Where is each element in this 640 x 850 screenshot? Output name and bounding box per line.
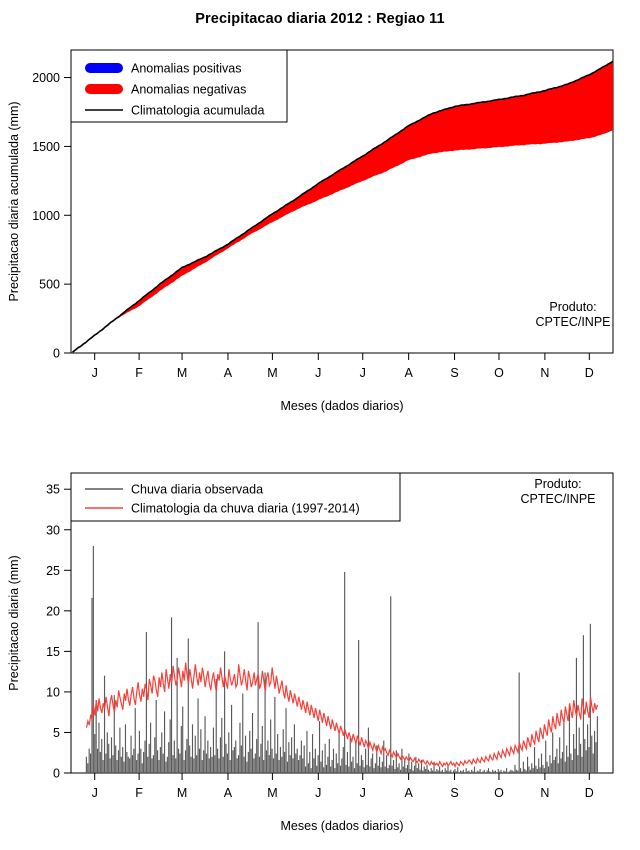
observed-bar <box>103 760 104 773</box>
observed-bar <box>540 767 541 773</box>
observed-bar <box>468 771 469 773</box>
observed-bar <box>290 755 291 773</box>
precipitation-figure: Precipitacao diaria 2012 : Regiao 11 050… <box>0 0 640 850</box>
observed-bar <box>507 772 508 773</box>
observed-bar <box>158 760 159 773</box>
x-tick-label-N: N <box>540 786 549 800</box>
observed-bar <box>146 632 147 773</box>
observed-bar <box>202 760 203 773</box>
observed-bar <box>362 760 363 773</box>
observed-bar <box>545 741 546 773</box>
observed-bar <box>191 757 192 773</box>
observed-bar <box>227 754 228 773</box>
observed-bar <box>184 760 185 773</box>
observed-bar <box>301 741 302 773</box>
observed-bar <box>533 768 534 773</box>
observed-bar <box>495 771 496 773</box>
observed-bar <box>406 768 407 773</box>
observed-bar <box>378 766 379 773</box>
observed-bar <box>506 768 507 773</box>
observed-bar <box>544 768 545 773</box>
legend-label-0: Chuva diaria observada <box>131 483 263 497</box>
observed-bar <box>87 763 88 773</box>
y-tick-label-20: 20 <box>46 604 60 618</box>
y-tick-label-1000: 1000 <box>32 209 60 223</box>
observed-bar <box>341 758 342 773</box>
observed-bar <box>519 672 520 773</box>
observed-bar <box>292 758 293 773</box>
observed-bar <box>157 750 158 773</box>
observed-bars-group <box>86 546 598 773</box>
x-tick-label-J: J <box>360 786 366 800</box>
y-axis-title: Precipitacao diaria (mm) <box>7 555 21 690</box>
observed-bar <box>209 758 210 773</box>
observed-bar <box>309 752 310 773</box>
observed-bar <box>586 750 587 773</box>
observed-bar <box>107 732 108 773</box>
legend-label-1: Climatologia da chuva diaria (1997-2014) <box>131 502 360 516</box>
observed-bar <box>453 771 454 773</box>
observed-bar <box>559 737 560 773</box>
observed-bar <box>207 741 208 773</box>
observed-bar <box>273 758 274 773</box>
observed-bar <box>517 771 518 773</box>
observed-bar <box>287 762 288 773</box>
observed-bar <box>499 771 500 773</box>
observed-bar <box>563 723 564 773</box>
produto-label-line2: CPTEC/INPE <box>520 492 595 506</box>
observed-bar <box>410 769 411 773</box>
legend-swatch-negative <box>85 84 123 94</box>
legend-label-1: Anomalias negativas <box>131 83 246 97</box>
accumulated-precipitation-chart: 0500100015002000JFMAMJJASONDMeses (dados… <box>0 30 640 450</box>
observed-bar <box>320 762 321 773</box>
observed-bar <box>252 713 253 773</box>
x-tick-label-F: F <box>135 366 143 380</box>
observed-bar <box>175 758 176 773</box>
observed-bar <box>509 771 510 773</box>
observed-bar <box>579 728 580 773</box>
observed-bar <box>160 747 161 773</box>
observed-bar <box>347 752 348 773</box>
x-tick-label-J: J <box>315 366 321 380</box>
observed-bar <box>380 767 381 773</box>
observed-bar <box>566 745 567 773</box>
observed-bar <box>475 772 476 773</box>
observed-bar <box>591 736 592 773</box>
observed-bar <box>242 694 243 773</box>
x-tick-label-F: F <box>135 786 143 800</box>
observed-bar <box>503 771 504 773</box>
observed-bar <box>165 762 166 773</box>
observed-bar <box>174 741 175 773</box>
legend-swatch-positive <box>85 63 123 73</box>
y-tick-label-25: 25 <box>46 564 60 578</box>
observed-bar <box>492 770 493 773</box>
observed-bar <box>554 760 555 773</box>
observed-bar <box>516 770 517 773</box>
accumulated-chart-svg: 0500100015002000JFMAMJJASONDMeses (dados… <box>0 30 640 450</box>
observed-bar <box>588 747 589 773</box>
observed-bar <box>396 750 397 773</box>
observed-bar <box>319 721 320 773</box>
observed-bar <box>570 754 571 773</box>
observed-bar <box>235 741 236 773</box>
observed-bar <box>98 723 99 773</box>
observed-bar <box>333 749 334 773</box>
observed-bar <box>90 754 91 773</box>
observed-bar <box>112 755 113 773</box>
observed-bar <box>463 770 464 773</box>
observed-bar <box>295 754 296 773</box>
observed-bar <box>143 752 144 773</box>
observed-bar <box>443 772 444 773</box>
observed-bar <box>459 772 460 773</box>
observed-bar <box>259 757 260 773</box>
observed-bar <box>315 749 316 773</box>
observed-bar <box>91 598 92 773</box>
observed-bar <box>345 765 346 773</box>
observed-bar <box>361 755 362 773</box>
observed-bar <box>408 754 409 773</box>
observed-bar <box>129 758 130 773</box>
observed-bar <box>284 752 285 773</box>
observed-bar <box>389 765 390 773</box>
observed-bar <box>256 739 257 773</box>
observed-bar <box>337 763 338 773</box>
observed-bar <box>587 724 588 773</box>
observed-bar <box>136 760 137 773</box>
observed-bar <box>260 744 261 773</box>
x-tick-label-M: M <box>267 786 277 800</box>
observed-bar <box>464 772 465 773</box>
observed-bar <box>140 749 141 773</box>
observed-bar <box>198 698 199 773</box>
observed-bar <box>401 749 402 773</box>
observed-bar <box>270 719 271 773</box>
observed-bar <box>237 758 238 773</box>
observed-bar <box>369 767 370 773</box>
observed-bar <box>534 747 535 773</box>
observed-bar <box>232 750 233 773</box>
observed-bar <box>489 771 490 773</box>
observed-bar <box>433 763 434 773</box>
observed-bar <box>251 749 252 773</box>
observed-bar <box>457 767 458 773</box>
observed-bar <box>514 765 515 773</box>
observed-bar <box>449 771 450 773</box>
observed-bar <box>267 741 268 773</box>
observed-bar <box>217 749 218 773</box>
observed-bar <box>390 596 391 773</box>
observed-bar <box>548 767 549 773</box>
observed-bar <box>248 752 249 773</box>
observed-bar <box>326 765 327 773</box>
observed-bar <box>329 739 330 773</box>
y-tick-label-0: 0 <box>53 347 60 361</box>
observed-bar <box>168 742 169 773</box>
observed-bar <box>340 766 341 773</box>
observed-bar <box>491 772 492 773</box>
observed-bar <box>355 742 356 773</box>
observed-bar <box>280 747 281 773</box>
observed-bar <box>153 755 154 773</box>
observed-bar <box>238 755 239 773</box>
observed-bar <box>285 708 286 773</box>
observed-bar <box>224 651 225 773</box>
observed-bar <box>524 769 525 773</box>
observed-bar <box>467 771 468 773</box>
observed-bar <box>561 758 562 773</box>
observed-bar <box>481 772 482 773</box>
observed-bar <box>94 734 95 773</box>
observed-bar <box>399 763 400 773</box>
observed-bar <box>574 749 575 773</box>
observed-bar <box>325 744 326 773</box>
observed-bar <box>306 731 307 773</box>
observed-bar <box>117 760 118 773</box>
observed-bar <box>383 741 384 773</box>
observed-bar <box>171 617 172 773</box>
observed-bar <box>422 771 423 773</box>
observed-bar <box>213 728 214 773</box>
observed-bar <box>142 763 143 773</box>
observed-bar <box>510 770 511 773</box>
observed-bar <box>411 762 412 773</box>
observed-bar <box>164 711 165 773</box>
observed-bar <box>188 638 189 773</box>
y-tick-label-10: 10 <box>46 685 60 699</box>
observed-bar <box>397 767 398 773</box>
y-tick-label-35: 35 <box>46 483 60 497</box>
observed-bar <box>144 741 145 773</box>
observed-bar <box>488 768 489 773</box>
x-tick-label-A: A <box>404 366 413 380</box>
observed-bar <box>294 724 295 773</box>
observed-bar <box>192 724 193 773</box>
observed-bar <box>512 771 513 773</box>
observed-bar <box>400 770 401 773</box>
observed-bar <box>115 745 116 773</box>
observed-bar <box>387 768 388 773</box>
observed-bar <box>446 771 447 773</box>
observed-bar <box>323 767 324 773</box>
observed-bar <box>348 767 349 773</box>
observed-bar <box>93 546 94 773</box>
x-tick-label-D: D <box>585 366 594 380</box>
legend-label-0: Anomalias positivas <box>131 62 241 76</box>
observed-bar <box>305 767 306 773</box>
observed-bar <box>419 770 420 773</box>
observed-bar <box>246 762 247 773</box>
observed-bar <box>132 755 133 773</box>
observed-bar <box>89 749 90 773</box>
observed-bar <box>364 767 365 773</box>
observed-bar <box>425 769 426 773</box>
x-tick-label-M: M <box>177 786 187 800</box>
observed-bar <box>253 758 254 773</box>
produto-label-line1: Produto: <box>549 300 596 314</box>
page-title: Precipitacao diaria 2012 : Regiao 11 <box>0 11 640 27</box>
observed-bar <box>343 747 344 773</box>
observed-bar <box>330 767 331 773</box>
observed-bar <box>528 767 529 773</box>
observed-bar <box>466 768 467 773</box>
observed-bar <box>302 758 303 773</box>
observed-bar <box>552 732 553 773</box>
observed-bar <box>154 737 155 773</box>
observed-bar <box>151 758 152 773</box>
observed-bar <box>547 762 548 773</box>
observed-bar <box>428 770 429 773</box>
observed-bar <box>438 771 439 773</box>
observed-bar <box>480 769 481 773</box>
observed-bar <box>394 769 395 773</box>
x-tick-label-N: N <box>540 366 549 380</box>
observed-bar <box>318 755 319 773</box>
observed-bar <box>366 765 367 773</box>
observed-bar <box>460 771 461 773</box>
observed-bar <box>322 750 323 773</box>
observed-bar <box>137 754 138 773</box>
observed-bar <box>520 768 521 773</box>
observed-bar <box>555 757 556 773</box>
x-tick-label-D: D <box>585 786 594 800</box>
daily-climatology-line <box>87 663 598 767</box>
observed-bar <box>567 757 568 773</box>
observed-bar <box>97 749 98 773</box>
observed-bar <box>439 767 440 773</box>
observed-bar <box>211 757 212 773</box>
observed-bar <box>385 767 386 773</box>
observed-bar <box>149 744 150 773</box>
observed-bar <box>477 771 478 773</box>
observed-bar <box>231 705 232 773</box>
observed-bar <box>351 762 352 773</box>
observed-bar <box>179 754 180 773</box>
observed-bar <box>593 754 594 773</box>
observed-bar <box>521 771 522 773</box>
observed-bar <box>350 737 351 773</box>
observed-bar <box>418 763 419 773</box>
observed-bar <box>255 754 256 773</box>
observed-bar <box>354 768 355 773</box>
observed-bar <box>541 754 542 773</box>
observed-bar <box>147 757 148 773</box>
observed-bar <box>352 757 353 773</box>
observed-bar <box>429 771 430 773</box>
observed-bar <box>130 736 131 773</box>
observed-bar <box>200 729 201 773</box>
observed-bar <box>121 757 122 773</box>
observed-bar <box>535 766 536 773</box>
legend-label-2: Climatologia acumulada <box>131 104 264 118</box>
observed-bar <box>542 765 543 773</box>
observed-bar <box>101 739 102 773</box>
observed-bar <box>482 771 483 773</box>
observed-bar <box>298 760 299 773</box>
observed-bar <box>327 757 328 773</box>
observed-bar <box>216 679 217 773</box>
observed-bar <box>527 757 528 773</box>
observed-bar <box>223 757 224 773</box>
observed-bar <box>558 763 559 773</box>
observed-bar <box>445 768 446 773</box>
observed-bar <box>373 768 374 773</box>
observed-bar <box>538 758 539 773</box>
x-axis-title: Meses (dados diarios) <box>281 819 404 833</box>
observed-bar <box>245 736 246 773</box>
observed-bar <box>487 771 488 773</box>
observed-bar <box>594 731 595 773</box>
observed-bar <box>125 724 126 773</box>
observed-bar <box>375 763 376 773</box>
observed-bar <box>266 750 267 773</box>
observed-bar <box>584 739 585 773</box>
observed-bar <box>442 770 443 773</box>
y-tick-label-30: 30 <box>46 523 60 537</box>
observed-bar <box>161 732 162 773</box>
x-tick-label-S: S <box>450 366 458 380</box>
observed-bar <box>597 716 598 773</box>
observed-bar <box>473 771 474 773</box>
x-tick-label-O: O <box>494 366 504 380</box>
observed-bar <box>500 770 501 773</box>
observed-bar <box>413 771 414 773</box>
observed-bar <box>478 771 479 773</box>
observed-bar <box>454 769 455 773</box>
x-tick-label-J: J <box>360 366 366 380</box>
observed-bar <box>471 770 472 773</box>
observed-bar <box>386 755 387 773</box>
observed-bar <box>182 707 183 773</box>
observed-bar <box>316 766 317 773</box>
observed-bar <box>403 767 404 773</box>
observed-bar <box>118 750 119 773</box>
observed-bar <box>431 768 432 773</box>
observed-bar <box>372 754 373 773</box>
observed-bar <box>281 757 282 773</box>
x-tick-label-M: M <box>267 366 277 380</box>
observed-bar <box>126 752 127 773</box>
observed-bar <box>241 745 242 773</box>
observed-bar <box>461 771 462 773</box>
observed-bar <box>526 771 527 773</box>
observed-bar <box>440 771 441 773</box>
observed-bar <box>436 769 437 773</box>
observed-bar <box>505 771 506 773</box>
y-tick-label-15: 15 <box>46 645 60 659</box>
observed-bar <box>562 752 563 773</box>
observed-bar <box>210 747 211 773</box>
y-axis-title: Precipitacao diaria acumulada (mm) <box>7 101 21 301</box>
observed-bar <box>203 750 204 773</box>
observed-bar <box>577 755 578 773</box>
observed-bar <box>86 757 87 773</box>
observed-bar <box>124 762 125 773</box>
observed-bar <box>199 749 200 773</box>
observed-bar <box>185 750 186 773</box>
observed-bar <box>195 736 196 773</box>
observed-bar <box>272 749 273 773</box>
observed-bar <box>167 757 168 773</box>
observed-bar <box>379 757 380 773</box>
observed-bar <box>357 763 358 773</box>
observed-bar <box>312 734 313 773</box>
observed-bar <box>523 762 524 773</box>
x-tick-label-S: S <box>450 786 458 800</box>
observed-bar <box>178 749 179 773</box>
